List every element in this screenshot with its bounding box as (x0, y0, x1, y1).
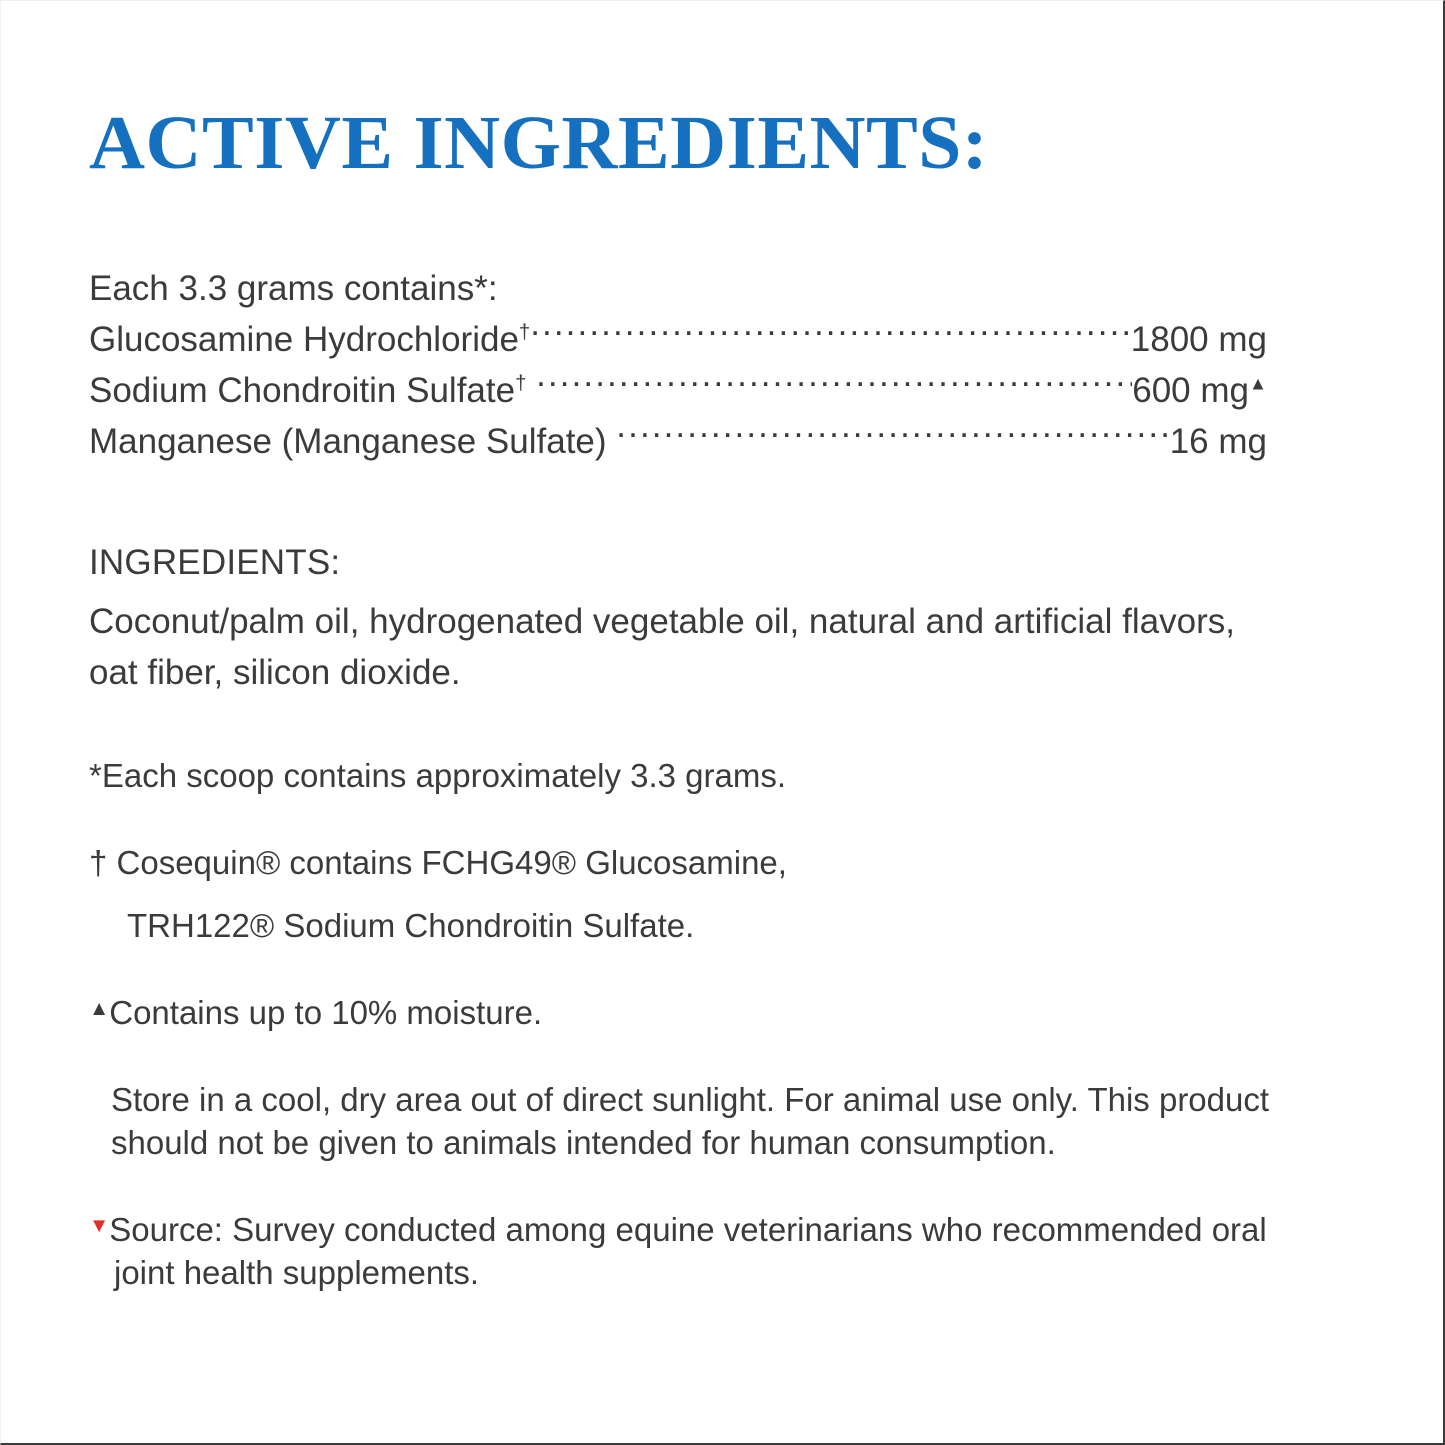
label-content: ACTIVE INGREDIENTS: Each 3.3 grams conta… (89, 105, 1289, 1322)
footnote-storage: Store in a cool, dry area out of direct … (89, 1078, 1316, 1164)
ingredients-heading: INGREDIENTS: (89, 537, 1289, 588)
dot-leader (536, 367, 1132, 402)
ingredient-amount: 600 mg▲ (1132, 365, 1267, 416)
dot-leader (530, 316, 1131, 351)
footnote-dagger-line1: † Cosequin® contains FCHG49® Glucosamine… (117, 841, 1289, 884)
ingredients-block: INGREDIENTS: Coconut/palm oil, hydrogena… (89, 537, 1289, 698)
ingredients-body: Coconut/palm oil, hydrogenated vegetable… (89, 596, 1289, 698)
footnote-moisture: ▲Contains up to 10% moisture. (89, 991, 1289, 1034)
page-title: ACTIVE INGREDIENTS: (89, 105, 1313, 181)
footnote-dagger-line2: TRH122® Sodium Chondroitin Sulfate. (127, 907, 694, 944)
footnote-scoop: *Each scoop contains approximately 3.3 g… (89, 754, 1289, 797)
footnote-moisture-text: Contains up to 10% moisture. (109, 994, 542, 1031)
footnote-source: ▼Source: Survey conducted among equine v… (89, 1208, 1274, 1294)
table-row: Sodium Chondroitin Sulfate† 600 mg▲ (89, 365, 1267, 416)
triangle-down-icon: ▼ (89, 1214, 109, 1237)
footnote-dagger: † Cosequin® contains FCHG49® Glucosamine… (89, 841, 1289, 884)
dagger-marker-icon: † (515, 372, 526, 394)
ingredient-name: Sodium Chondroitin Sulfate† (89, 365, 536, 416)
ingredient-amount: 1800 mg (1131, 314, 1267, 365)
footnote-source-text: Source: Survey conducted among equine ve… (109, 1211, 1267, 1291)
table-row: Manganese (Manganese Sulfate) 16 mg (89, 416, 1267, 467)
dagger-marker-icon: † (519, 321, 530, 343)
ingredient-name: Glucosamine Hydrochloride† (89, 314, 530, 365)
active-ingredients-intro: Each 3.3 grams contains*: (89, 263, 1289, 314)
footnotes-block: *Each scoop contains approximately 3.3 g… (89, 754, 1289, 1294)
table-row: Glucosamine Hydrochloride† 1800 mg (89, 314, 1267, 365)
triangle-up-icon: ▲ (89, 997, 109, 1020)
label-page: ACTIVE INGREDIENTS: Each 3.3 grams conta… (0, 0, 1445, 1445)
ingredient-amount: 16 mg (1170, 416, 1267, 467)
active-ingredients-block: Each 3.3 grams contains*: Glucosamine Hy… (89, 263, 1289, 467)
footnote-dagger-line2-wrap: TRH122® Sodium Chondroitin Sulfate. (89, 904, 1289, 947)
dot-leader (616, 418, 1169, 453)
triangle-up-icon: ▲ (1249, 373, 1267, 393)
ingredient-name: Manganese (Manganese Sulfate) (89, 416, 616, 467)
